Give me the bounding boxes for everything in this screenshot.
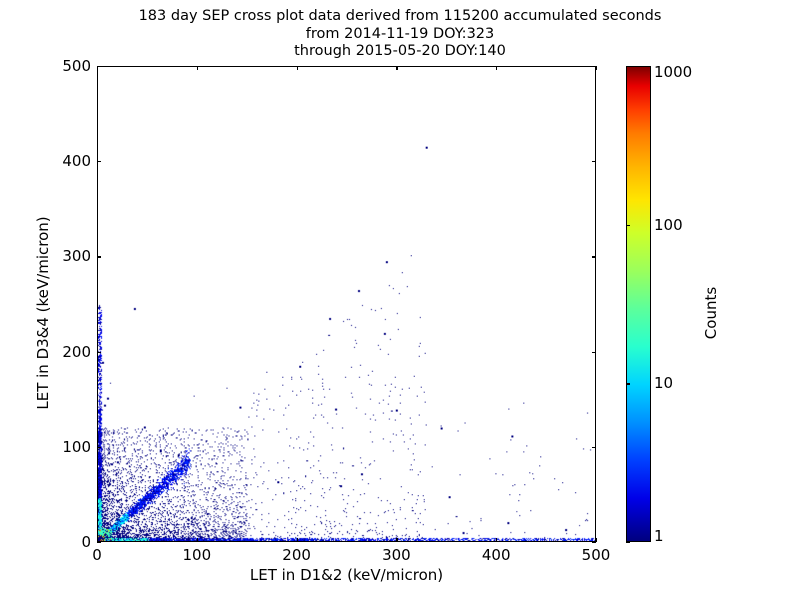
x-axis-label: LET in D1&2 (keV/micron): [97, 566, 596, 584]
colorbar-tick: [626, 225, 630, 226]
y-tick: [97, 352, 101, 353]
y-tick: [97, 447, 101, 448]
y-tick-label: 100: [49, 438, 91, 456]
x-tick: [197, 538, 198, 542]
y-tick: [97, 542, 101, 543]
colorbar-tick-label: 1000: [654, 63, 692, 81]
colorbar-label: Counts: [702, 213, 720, 413]
y-tick-label: 500: [49, 57, 91, 75]
colorbar-tick-label: 100: [654, 216, 683, 234]
y-tick-label: 400: [49, 152, 91, 170]
x-tick-label: 200: [282, 546, 311, 564]
y-tick-label: 200: [49, 343, 91, 361]
plot-axes: [97, 66, 596, 542]
y-tick-label: 0: [49, 533, 91, 551]
x-tick-top: [197, 66, 198, 70]
y-tick-right: [592, 161, 596, 162]
y-tick: [97, 66, 101, 67]
colorbar-tick-label: 1: [654, 527, 664, 545]
x-tick-label: 500: [582, 546, 611, 564]
y-tick-right: [592, 352, 596, 353]
y-tick-right: [592, 66, 596, 67]
x-tick: [496, 538, 497, 542]
y-tick: [97, 161, 101, 162]
colorbar-tick: [626, 542, 630, 543]
y-tick-right: [592, 542, 596, 543]
x-tick-label: 100: [182, 546, 211, 564]
y-axis-label: LET in D3&4 (keV/micron): [34, 163, 52, 463]
scatter-plot-canvas: [98, 67, 595, 541]
x-tick-top: [496, 66, 497, 70]
colorbar: [626, 66, 651, 542]
x-tick-top: [596, 66, 597, 70]
x-tick-top: [297, 66, 298, 70]
x-tick-label: 0: [92, 546, 102, 564]
colorbar-tick: [626, 383, 630, 384]
x-tick: [396, 538, 397, 542]
y-tick-right: [592, 256, 596, 257]
chart-title: 183 day SEP cross plot data derived from…: [0, 8, 800, 61]
y-tick: [97, 256, 101, 257]
y-tick-label: 300: [49, 247, 91, 265]
x-tick: [297, 538, 298, 542]
y-tick-right: [592, 447, 596, 448]
colorbar-tick: [626, 66, 630, 67]
x-tick-top: [396, 66, 397, 70]
x-tick-label: 300: [382, 546, 411, 564]
x-tick-label: 400: [482, 546, 511, 564]
figure: 183 day SEP cross plot data derived from…: [0, 0, 800, 600]
x-tick: [596, 538, 597, 542]
colorbar-tick-label: 10: [654, 374, 673, 392]
